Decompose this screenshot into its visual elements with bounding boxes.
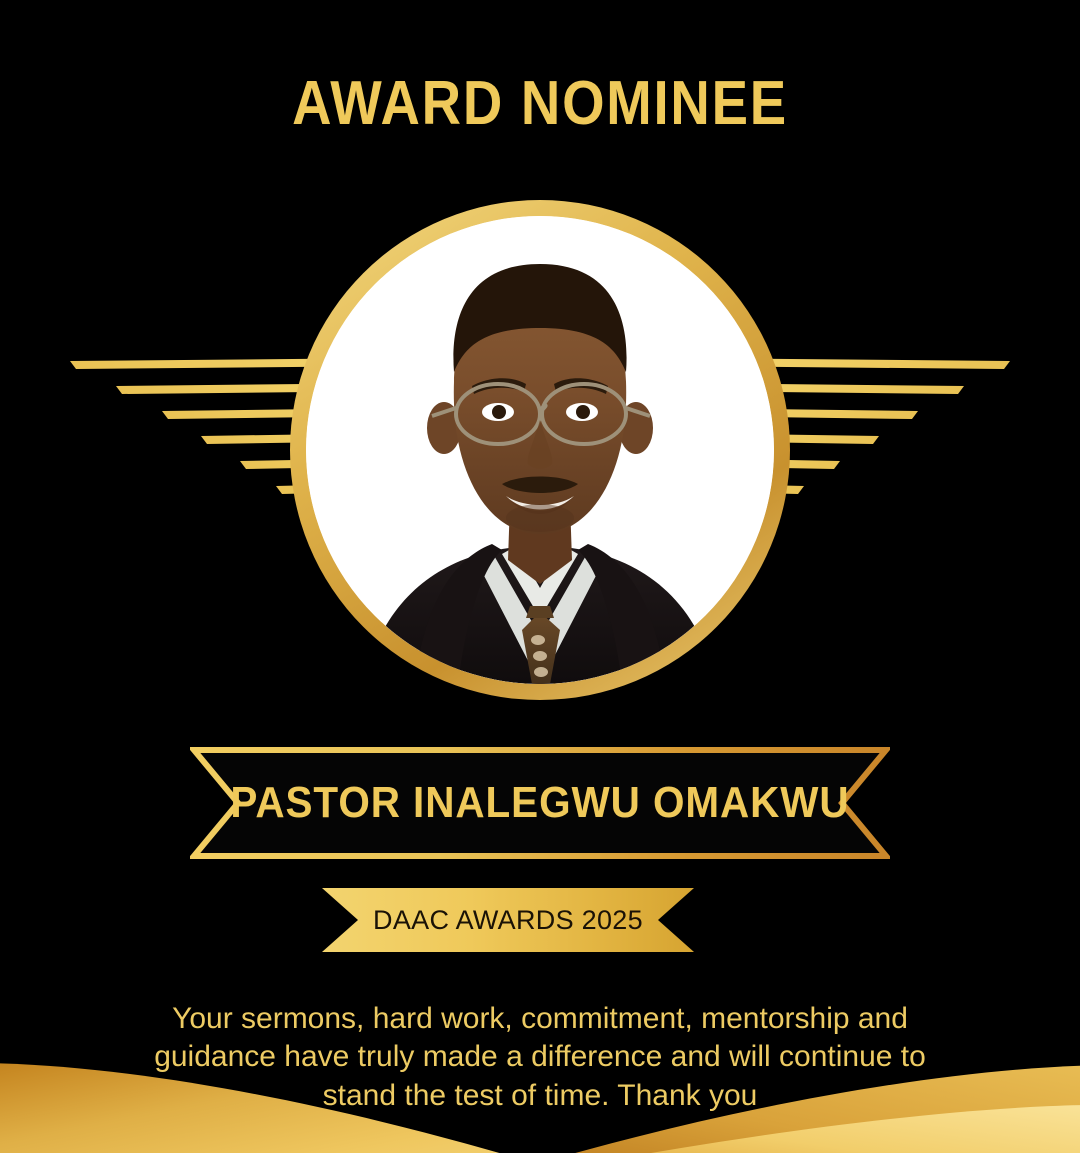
- avatar: [306, 216, 774, 684]
- nominee-name: PASTOR INALEGWU OMAKWU: [218, 746, 862, 860]
- portrait-illustration-icon: [306, 216, 774, 684]
- page-title: AWARD NOMINEE: [65, 68, 1015, 139]
- portrait-gold-ring: [290, 200, 790, 700]
- award-ribbon: DAAC AWARDS 2025: [322, 888, 694, 952]
- nominee-name-banner: PASTOR INALEGWU OMAKWU: [190, 746, 890, 860]
- appreciation-message: Your sermons, hard work, commitment, men…: [130, 1000, 950, 1115]
- award-ribbon-label: DAAC AWARDS 2025: [322, 888, 694, 952]
- award-nominee-poster: AWARD NOMINEE: [0, 0, 1080, 1153]
